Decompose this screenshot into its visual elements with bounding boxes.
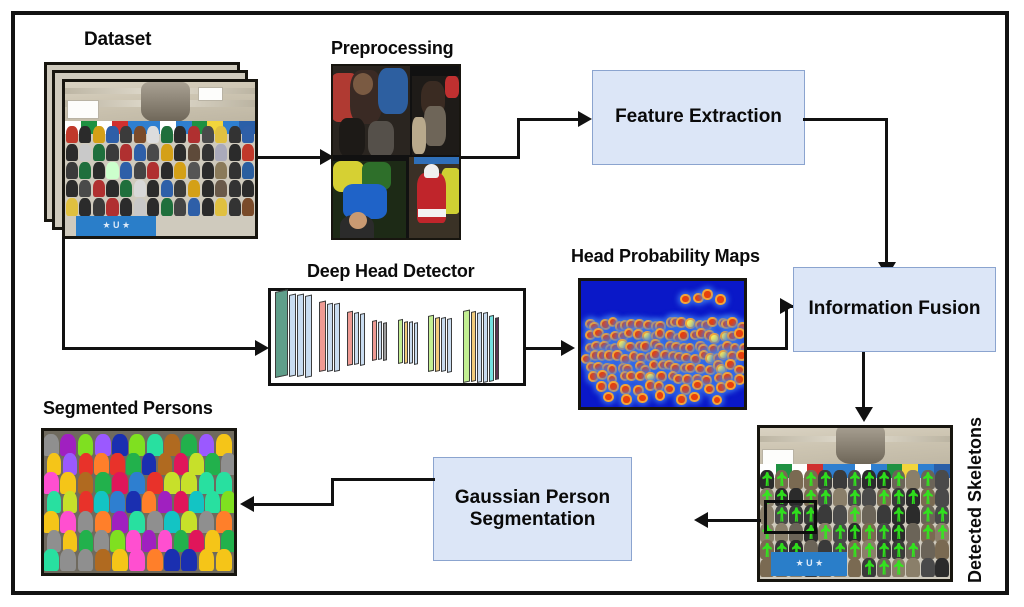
head-detection-blob — [714, 397, 721, 404]
head-detection-blob — [628, 321, 635, 328]
head-detection-blob — [623, 396, 630, 403]
segmented-person — [43, 549, 59, 571]
head-detection-blob — [631, 353, 638, 360]
dataset-image[interactable]: ★ U ★ — [62, 79, 258, 239]
crowd-person — [935, 470, 949, 489]
head-detection-blob — [645, 322, 652, 329]
cnn-layer — [483, 312, 488, 383]
head-detection-blob — [707, 355, 714, 362]
connector-gps-down — [331, 478, 334, 506]
cnn-layer — [414, 322, 418, 365]
segmented-person — [181, 549, 197, 571]
crowd-row — [65, 126, 255, 143]
cnn-architecture — [271, 291, 523, 383]
head-detection-blob — [605, 394, 612, 401]
head-detection-blob — [612, 345, 619, 352]
head-detection-blob — [612, 333, 619, 340]
arrowhead-right — [780, 298, 794, 314]
arrowhead-right — [578, 111, 592, 127]
head-detection-blob — [595, 364, 602, 371]
head-detection-blob — [638, 355, 645, 362]
head-detection-blob — [718, 384, 725, 391]
crowd-person — [818, 505, 832, 524]
segmented-person — [63, 491, 78, 513]
connector-dataset-to-detector — [62, 347, 258, 350]
crowd-person — [833, 505, 847, 524]
head-detection-blob — [673, 344, 680, 351]
segmented-person — [164, 549, 180, 571]
head-detection-blob — [711, 335, 718, 342]
cnn-layer — [275, 289, 288, 378]
head-detection-blob — [626, 330, 633, 337]
segmented-person — [216, 549, 232, 571]
head-detection-blob — [729, 353, 736, 360]
head-detection-blob — [678, 396, 685, 403]
segmented-person — [189, 491, 204, 513]
cnn-layer — [447, 318, 452, 373]
crowd-row — [65, 180, 255, 197]
head-detection-blob — [736, 330, 743, 337]
arrowhead-left — [694, 512, 708, 528]
head-detection-blob — [583, 356, 590, 363]
connector-detector-to-heatmap — [526, 347, 566, 350]
head-detection-blob — [635, 331, 642, 338]
head-detection-blob — [642, 367, 649, 374]
crowd-person — [921, 540, 935, 559]
segmented-person — [199, 549, 215, 571]
head-detection-blob — [656, 383, 663, 390]
crowd-person — [833, 470, 847, 489]
connector-to-feature-extraction — [517, 118, 585, 121]
arrowhead-down — [855, 407, 873, 422]
head-detection-blob — [587, 332, 594, 339]
head-detection-blob — [729, 319, 736, 326]
preprocessing-crops[interactable] — [331, 64, 461, 240]
cnn-layer — [441, 317, 446, 372]
label-dataset: Dataset — [84, 29, 151, 51]
crowd-person — [906, 470, 920, 489]
crowd-photo: ★ U ★ — [65, 82, 255, 236]
crowd-person — [862, 488, 876, 507]
head-detection-blob — [698, 330, 705, 337]
connector-fe-down — [885, 118, 888, 266]
fisu-banner: ★ U ★ — [771, 552, 847, 576]
head-detection-blob — [682, 386, 689, 393]
cnn-layer — [354, 312, 359, 365]
label-deep-head-detector: Deep Head Detector — [307, 261, 474, 282]
cnn-layer — [398, 319, 403, 364]
head-detection-blob — [707, 367, 714, 374]
head-detection-blob — [599, 352, 606, 359]
head-detection-blob — [722, 333, 729, 340]
head-detection-blob — [606, 352, 613, 359]
head-detection-blob — [658, 373, 665, 380]
connector-skeletons-left — [706, 519, 761, 522]
head-detection-blob — [709, 319, 716, 326]
cnn-layer — [378, 321, 382, 360]
cnn-layer — [334, 303, 340, 372]
head-detection-blob — [736, 376, 743, 383]
head-detection-blob — [682, 296, 689, 303]
head-detection-blob — [602, 321, 609, 328]
head-detection-blob — [637, 373, 644, 380]
connector-fe-right — [803, 118, 888, 121]
arrowhead-left — [240, 496, 254, 512]
arrowhead-right — [561, 340, 575, 356]
crop-patch-3 — [333, 161, 406, 238]
head-detection-blob — [695, 295, 702, 302]
gaussian-person-segmentation-box[interactable]: Gaussian Person Segmentation — [433, 457, 632, 561]
label-detected-skeletons: Detected Skeletons — [965, 417, 986, 583]
wall-screen — [198, 87, 223, 101]
head-detection-blob — [647, 374, 654, 381]
crowd-person — [848, 558, 862, 577]
head-detection-blob — [593, 343, 600, 350]
segmented-person — [43, 511, 59, 533]
head-detection-blob — [691, 394, 698, 401]
cnn-layer — [305, 294, 312, 377]
segmented-person — [129, 549, 145, 571]
connector-dataset-down — [62, 237, 65, 350]
crowd-person — [906, 558, 920, 577]
head-detection-blob — [622, 322, 629, 329]
head-detection-blob — [599, 372, 606, 379]
gps-line-2: Segmentation — [470, 509, 596, 531]
head-detection-blob — [622, 356, 629, 363]
fisu-banner: ★ U ★ — [76, 216, 156, 236]
label-preprocessing: Preprocessing — [331, 38, 453, 59]
head-detection-blob — [619, 341, 626, 348]
head-detection-blob — [724, 343, 731, 350]
segmented-person — [95, 549, 111, 571]
head-detection-blob — [622, 386, 629, 393]
segmentation-canvas — [44, 431, 234, 573]
head-detection-blob — [667, 332, 674, 339]
head-detection-blob — [657, 323, 664, 330]
cnn-layer — [495, 317, 499, 380]
head-detection-blob — [647, 382, 654, 389]
head-detection-blob — [635, 387, 642, 394]
hall-lamp — [836, 425, 885, 464]
label-head-probability-maps: Head Probability Maps — [571, 246, 760, 267]
connector-to-segmented-persons — [252, 503, 334, 506]
head-detection-blob — [590, 373, 597, 380]
head-detection-blob — [680, 332, 687, 339]
heatmap-canvas — [581, 281, 744, 407]
cnn-layer — [360, 313, 365, 366]
cnn-layer — [347, 311, 353, 366]
cnn-layer — [297, 294, 304, 377]
head-detection-blob — [727, 382, 734, 389]
crop-patch-1 — [333, 66, 410, 155]
head-detection-blob — [675, 376, 682, 383]
head-detection-blob — [652, 351, 659, 358]
head-detection-blob — [642, 343, 649, 350]
segmented-person — [174, 491, 189, 513]
head-detection-blob — [651, 362, 658, 369]
head-detection-blob — [609, 366, 616, 373]
head-detection-blob — [704, 291, 711, 298]
head-detection-blob — [717, 296, 724, 303]
connector-preprocessing-right — [461, 156, 520, 159]
head-detection-blob — [683, 355, 690, 362]
head-detection-blob — [692, 356, 699, 363]
crowd-row — [65, 144, 255, 161]
label-segmented-persons: Segmented Persons — [43, 398, 213, 419]
head-detection-blob — [687, 365, 694, 372]
deep-head-detector-box[interactable] — [268, 288, 526, 386]
head-detection-blob — [697, 366, 704, 373]
crowd-photo-skeletons: ★ U ★ — [760, 428, 950, 579]
crop-patch-2 — [412, 76, 459, 155]
crowd-person — [906, 505, 920, 524]
feature-extraction-box[interactable]: Feature Extraction — [592, 70, 805, 165]
head-detection-blob — [614, 352, 621, 359]
connector-heatmap-right — [747, 347, 788, 350]
crowd-row — [65, 198, 255, 216]
head-detection-blob — [718, 366, 725, 373]
head-detection-blob — [598, 383, 605, 390]
segmented-person — [147, 549, 163, 571]
head-detection-blob — [627, 344, 634, 351]
selected-region-box[interactable] — [764, 500, 817, 533]
arrowhead-right — [255, 340, 269, 356]
crowd-seating: ★ U ★ — [65, 124, 255, 236]
head-detection-blob — [727, 361, 734, 368]
head-detection-blob — [706, 386, 713, 393]
head-detection-blob — [676, 354, 683, 361]
head-detection-blob — [732, 345, 739, 352]
cnn-layer — [435, 317, 440, 372]
head-detection-blob — [666, 386, 673, 393]
head-detection-blob — [657, 330, 664, 337]
head-detection-blob — [610, 319, 617, 326]
segmented-person — [60, 549, 76, 571]
detected-skeletons-image[interactable]: ★ U ★ — [757, 425, 953, 582]
cnn-layer — [477, 312, 482, 383]
head-detection-blob — [628, 373, 635, 380]
connector-gps-left-top — [331, 478, 435, 481]
segmented-person — [78, 549, 94, 571]
head-detection-blob — [672, 365, 679, 372]
head-detection-blob — [610, 383, 617, 390]
head-detection-blob — [595, 330, 602, 337]
head-detection-blob — [636, 321, 643, 328]
cnn-layer — [409, 321, 413, 364]
connector-dataset-to-preprocessing — [258, 156, 322, 159]
head-detection-blob — [687, 320, 694, 327]
head-detection-blob — [644, 333, 651, 340]
head-detection-blob — [588, 364, 595, 371]
cnn-layer — [289, 293, 296, 376]
cnn-layer — [383, 322, 387, 361]
head-detection-blob — [609, 376, 616, 383]
cnn-layer — [489, 315, 494, 382]
crowd-person — [862, 505, 876, 524]
cnn-layer — [404, 321, 408, 364]
head-detection-blob — [694, 382, 701, 389]
crowd-person — [789, 470, 803, 489]
head-detection-blob — [720, 352, 727, 359]
head-probability-map[interactable] — [578, 278, 747, 410]
gps-line-1: Gaussian Person — [455, 487, 610, 509]
wall-screen — [67, 100, 99, 119]
cnn-layer — [428, 315, 434, 372]
connector-if-down — [862, 352, 865, 411]
crowd-person — [935, 558, 949, 577]
connector-preprocessing-up — [517, 118, 520, 159]
crowd-person — [921, 558, 935, 577]
head-detection-blob — [738, 352, 745, 359]
head-detection-blob — [724, 374, 731, 381]
crowd-person — [877, 505, 891, 524]
head-detection-blob — [703, 377, 710, 384]
cnn-layer — [463, 309, 470, 382]
hall-lamp — [141, 82, 190, 122]
information-fusion-box[interactable]: Information Fusion — [793, 267, 996, 352]
head-detection-blob — [736, 367, 743, 374]
segmented-person — [112, 549, 128, 571]
crop-patch-4 — [409, 157, 459, 238]
diagram-canvas: Dataset — [0, 0, 1024, 607]
segmented-persons-image[interactable] — [41, 428, 237, 576]
head-detection-blob — [662, 352, 669, 359]
crowd-person — [906, 523, 920, 542]
head-detection-blob — [716, 375, 723, 382]
head-detection-blob — [639, 395, 646, 402]
head-detection-blob — [684, 376, 691, 383]
cnn-layer — [327, 302, 333, 371]
crowd-row — [65, 162, 255, 179]
head-detection-blob — [678, 319, 685, 326]
cnn-layer — [372, 319, 377, 360]
head-detection-blob — [603, 335, 610, 342]
head-detection-blob — [657, 392, 664, 399]
head-detection-blob — [710, 346, 717, 353]
cnn-layer — [471, 311, 476, 382]
head-detection-blob — [687, 345, 694, 352]
crowd-person — [833, 488, 847, 507]
cnn-layer — [319, 301, 326, 372]
crowd-person — [935, 540, 949, 559]
crowd-person — [935, 488, 949, 507]
